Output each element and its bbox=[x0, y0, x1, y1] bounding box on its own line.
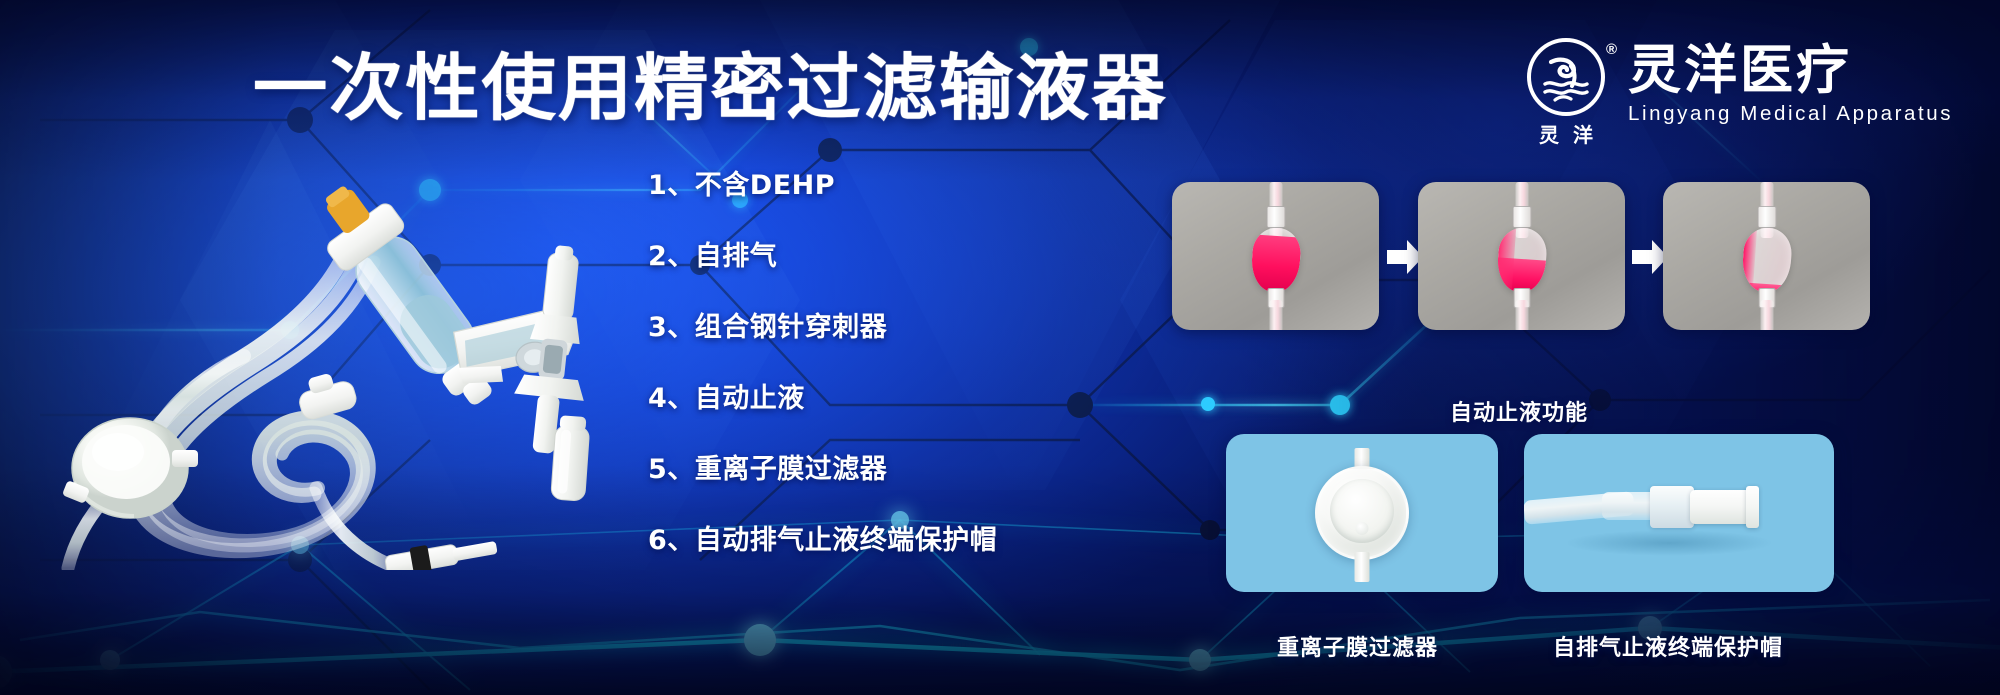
logo-mark-chinese: 灵洋 bbox=[1518, 119, 1614, 148]
feature-item-5: 5、重离子膜过滤器 bbox=[648, 456, 998, 483]
sequence-caption: 自动止液功能 bbox=[1450, 395, 1588, 427]
protective-cap-art bbox=[1690, 490, 1752, 524]
brand-name-en: Lingyang Medical Apparatus bbox=[1628, 102, 1953, 126]
registered-trademark-icon: ® bbox=[1606, 42, 1617, 57]
injection-port-part bbox=[294, 368, 359, 422]
luer-lock-art bbox=[1650, 486, 1694, 528]
sequence-photo-2 bbox=[1418, 182, 1625, 330]
brand-text: 灵洋医疗 Lingyang Medical Apparatus bbox=[1628, 38, 1953, 126]
feature-item-2: 2、自排气 bbox=[648, 243, 998, 270]
heavy-ion-membrane-filter-art bbox=[1315, 466, 1409, 560]
cap-photo bbox=[1524, 434, 1834, 592]
feature-item-4: 4、自动止液 bbox=[648, 385, 998, 412]
circle-wave-emblem-icon bbox=[1527, 38, 1605, 116]
filter-photo bbox=[1226, 434, 1498, 592]
sequence-photo-1 bbox=[1172, 182, 1379, 330]
product-banner: 一次性使用精密过滤输液器 ® 灵洋 灵洋医疗 Lingyang Medical … bbox=[0, 0, 2000, 695]
brand-logo: ® 灵洋 灵洋医疗 Lingyang Medical Apparatus bbox=[1518, 38, 1953, 148]
page-title: 一次性使用精密过滤输液器 bbox=[253, 52, 1168, 124]
wave-swimmer-glyph bbox=[1535, 46, 1597, 108]
cap-caption: 自排气止液终端保护帽 bbox=[1553, 630, 1783, 662]
product-accessories bbox=[440, 230, 680, 550]
sequence-photo-3 bbox=[1663, 182, 1870, 330]
feature-item-6: 6、自动排气止液终端保护帽 bbox=[648, 527, 998, 554]
feature-item-3: 3、组合钢针穿刺器 bbox=[648, 314, 998, 341]
logo-mark: ® 灵洋 bbox=[1518, 38, 1614, 148]
feature-list: 1、不含DEHP 2、自排气 3、组合钢针穿刺器 4、自动止液 5、重离子膜过滤… bbox=[648, 172, 998, 554]
fluid-level-1 bbox=[1249, 234, 1301, 294]
filter-caption: 重离子膜过滤器 bbox=[1277, 630, 1438, 662]
feature-item-1: 1、不含DEHP bbox=[648, 172, 998, 199]
brand-name-cn: 灵洋医疗 bbox=[1628, 44, 1953, 98]
